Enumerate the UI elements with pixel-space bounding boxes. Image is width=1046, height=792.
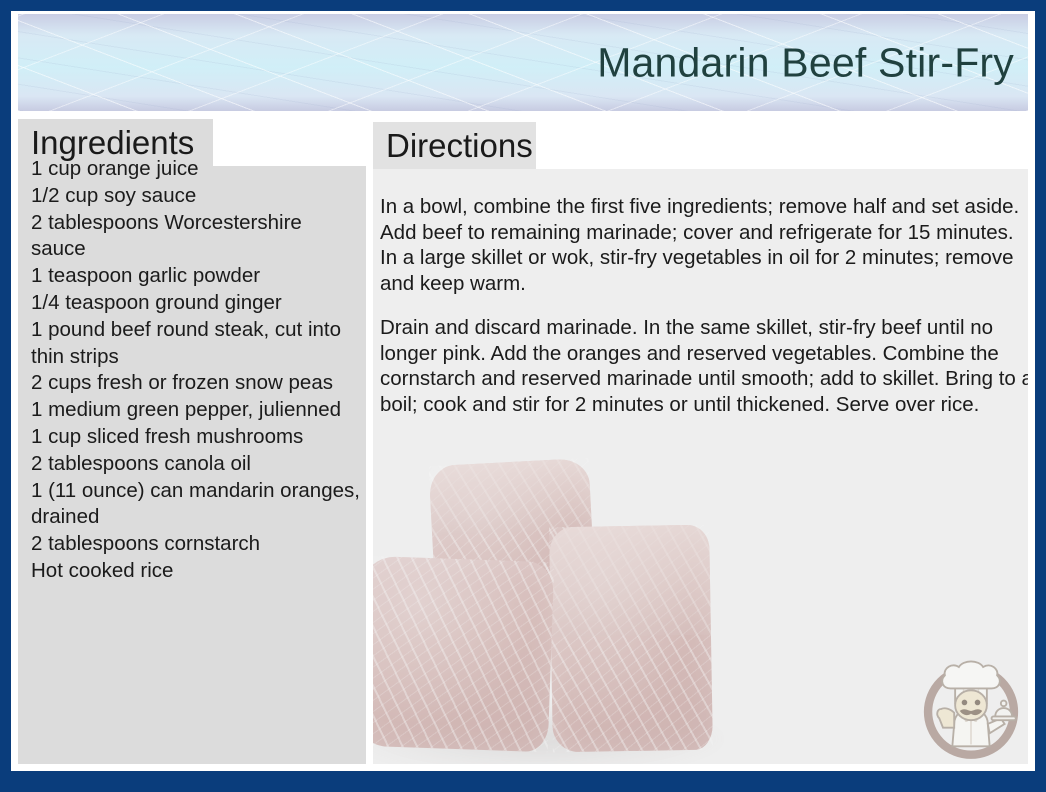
list-item: 1/4 teaspoon ground ginger: [31, 290, 360, 317]
ingredients-panel: Ingredients 1 cup orange juice 1/2 cup s…: [18, 119, 366, 764]
beef-top-face: [429, 458, 592, 536]
list-item: 1 teaspoon garlic powder: [31, 263, 360, 290]
list-item: 1/2 cup soy sauce: [31, 183, 360, 210]
directions-heading: Directions: [386, 127, 533, 165]
list-item: 2 tablespoons canola oil: [31, 451, 360, 478]
list-item: 1 pound beef round steak, cut into thin …: [31, 317, 360, 371]
ingredients-list: 1 cup orange juice 1/2 cup soy sauce 2 t…: [31, 156, 360, 585]
list-item: 1 (11 ounce) can mandarin oranges, drain…: [31, 478, 360, 532]
beef-cube-right: [549, 525, 713, 753]
list-item: Hot cooked rice: [31, 558, 360, 585]
directions-text: In a bowl, combine the first five ingred…: [380, 194, 1028, 436]
beef-cube-front-left: [373, 556, 554, 753]
title-banner: Mandarin Beef Stir-Fry: [18, 14, 1028, 111]
list-item: 2 tablespoons Worcestershire sauce: [31, 210, 360, 264]
list-item: 2 cups fresh or frozen snow peas: [31, 370, 360, 397]
list-item: 1 cup orange juice: [31, 156, 360, 183]
beef-top-face: [549, 525, 711, 638]
beef-texture: [373, 556, 554, 753]
recipe-slide: Mandarin Beef Stir-Fry Ingredients 1 cup…: [0, 0, 1046, 792]
page-title: Mandarin Beef Stir-Fry: [597, 39, 1014, 86]
directions-paragraph: Drain and discard marinade. In the same …: [380, 315, 1028, 417]
beef-photo: [373, 454, 753, 764]
chef-logo-icon: [915, 653, 1027, 765]
directions-paragraph: In a bowl, combine the first five ingred…: [380, 194, 1028, 296]
directions-header-tab: Directions: [373, 122, 536, 169]
list-item: 1 medium green pepper, julienned: [31, 397, 360, 424]
slide-canvas: Mandarin Beef Stir-Fry Ingredients 1 cup…: [11, 11, 1035, 771]
list-item: 1 cup sliced fresh mushrooms: [31, 424, 360, 451]
list-item: 2 tablespoons cornstarch: [31, 531, 360, 558]
